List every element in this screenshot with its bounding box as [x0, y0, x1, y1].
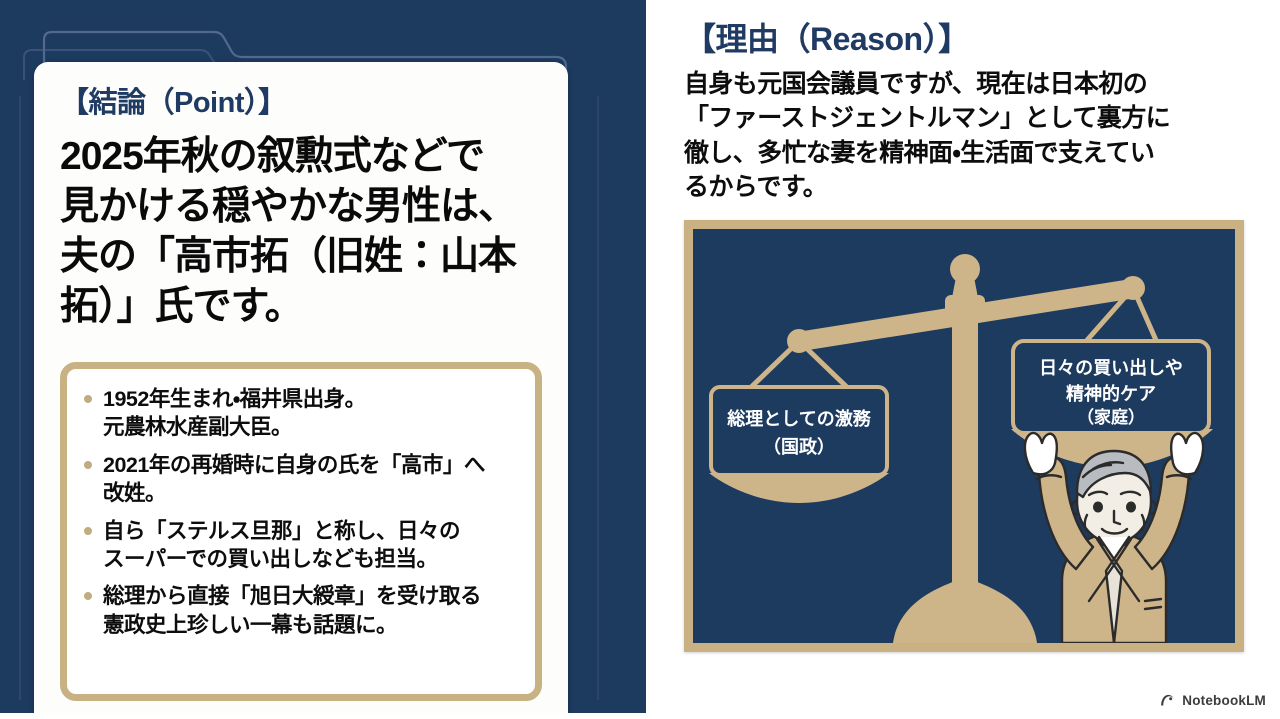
fact-line-1: 2021年の再婚時に自身の氏を「高市」へ: [103, 453, 485, 477]
reason-body-line: るからです。: [684, 170, 1262, 204]
slide-canvas: 【結論（Point）】 2025年秋の叙勲式などで 見かける穏やかな男性は、 夫…: [0, 0, 1280, 719]
reason-body-line: 徹し、多忙な妻を精神面・生活面で支えてい: [684, 136, 1262, 170]
left-pan-label-line1: 総理としての激務: [726, 408, 871, 429]
point-body: 2025年秋の叙勲式などで 見かける穏やかな男性は、 夫の「高市拓（旧姓：山本 …: [60, 132, 542, 332]
right-pan-label-line2: 精神的ケア: [1066, 383, 1156, 404]
fact-line-2: 改姓。: [103, 479, 521, 507]
left-pan-label-line2: （国政）: [763, 436, 835, 457]
right-pan-label-line1: 日々の買い出しや: [1039, 357, 1183, 378]
list-item: 自ら「ステルス旦那」と称し、日々の スーパーでの買い出しなども担当。: [77, 517, 521, 574]
reason-body-line: 「ファーストジェントルマン」として裏方に: [684, 101, 1262, 135]
list-item: 総理から直接「旭日大綬章」を受け取る 憲政史上珍しい一幕も話題に。: [77, 582, 521, 639]
left-pan-card: [711, 387, 887, 475]
point-panel: 【結論（Point）】 2025年秋の叙勲式などで 見かける穏やかな男性は、 夫…: [0, 0, 646, 719]
fact-line-2: 元農林水産副大臣。: [103, 413, 521, 441]
point-body-line: 見かける穏やかな男性は、: [60, 182, 542, 232]
notebooklm-logo-icon: [1159, 692, 1176, 709]
fact-line-2: 憲政史上珍しい一幕も話題に。: [103, 611, 521, 639]
reason-body: 自身も元国会議員ですが、現在は日本初の 「ファーストジェントルマン」として裏方に…: [684, 67, 1262, 204]
fact-line-1: 自ら「ステルス旦那」と称し、日々の: [103, 519, 460, 543]
man-figure-icon: [1025, 433, 1203, 643]
point-body-line: 夫の「高市拓（旧姓：山本: [60, 232, 542, 282]
balance-scale-illustration: 総理としての激務 （国政） 日々の買い出しや 精神的ケア （家庭）: [693, 229, 1235, 643]
point-heading: 【結論（Point）】: [60, 88, 542, 120]
illustration-frame: 総理としての激務 （国政） 日々の買い出しや 精神的ケア （家庭）: [684, 220, 1244, 652]
notebooklm-watermark: NotebookLM: [1159, 692, 1266, 709]
list-item: 1952年生まれ・福井県出身。 元農林水産副大臣。: [77, 385, 521, 442]
watermark-label: NotebookLM: [1182, 693, 1266, 708]
facts-list: 1952年生まれ・福井県出身。 元農林水産副大臣。 2021年の再婚時に自身の氏…: [77, 385, 521, 639]
fact-line-2: スーパーでの買い出しなども担当。: [103, 545, 521, 573]
reason-body-line: 自身も元国会議員ですが、現在は日本初の: [684, 67, 1262, 101]
facts-box: 1952年生まれ・福井県出身。 元農林水産副大臣。 2021年の再婚時に自身の氏…: [60, 362, 542, 701]
point-body-line: 拓）」氏です。: [60, 282, 542, 332]
point-body-line: 2025年秋の叙勲式などで: [60, 132, 542, 182]
fact-line-1: 総理から直接「旭日大綬章」を受け取る: [103, 584, 481, 608]
fact-line-1: 1952年生まれ・福井県出身。: [103, 387, 366, 411]
bottom-white-strip: [0, 713, 1280, 719]
reason-panel: 【理由（Reason）】 自身も元国会議員ですが、現在は日本初の 「ファーストジ…: [650, 0, 1280, 719]
reason-heading: 【理由（Reason）】: [684, 22, 1262, 57]
point-card: 【結論（Point）】 2025年秋の叙勲式などで 見かける穏やかな男性は、 夫…: [34, 62, 568, 719]
left-scale-pan: 総理としての激務 （国政）: [709, 341, 889, 503]
list-item: 2021年の再婚時に自身の氏を「高市」へ 改姓。: [77, 451, 521, 508]
right-pan-label-line3: （家庭）: [1077, 407, 1145, 427]
